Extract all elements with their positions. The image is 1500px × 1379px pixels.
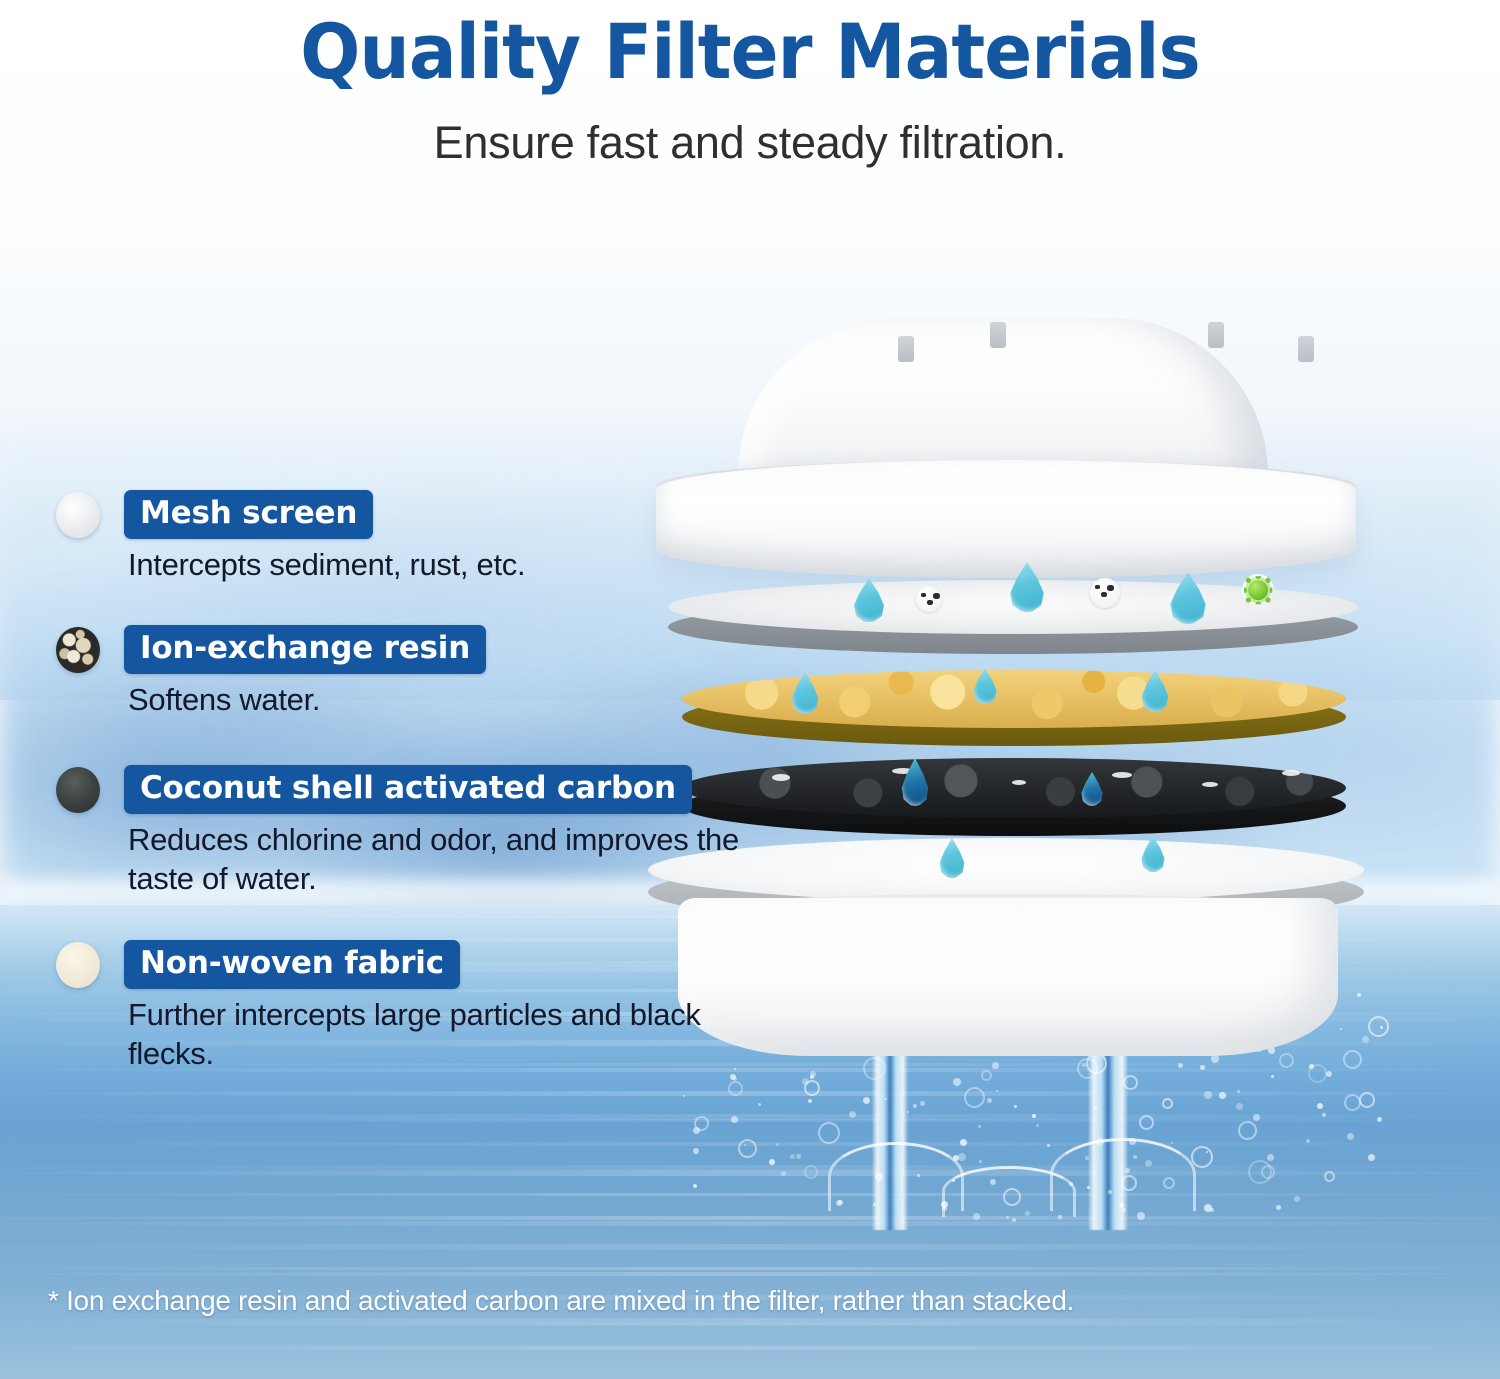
splash-droplet: [1211, 1055, 1219, 1063]
material-label-mesh-screen: Mesh screen Intercepts sediment, rust, e…: [56, 490, 525, 584]
splash-droplet: [1108, 1190, 1112, 1194]
badge-non-woven-fabric: Non-woven fabric: [124, 940, 460, 989]
ion-exchange-resin-disc: [682, 670, 1346, 746]
desc-ion-exchange-resin: Softens water.: [128, 680, 486, 720]
desc-mesh-screen: Intercepts sediment, rust, etc.: [128, 545, 525, 585]
splash-droplet: [1204, 1091, 1212, 1099]
splash-bubble: [1191, 1146, 1213, 1168]
page-subtitle: Ensure fast and steady filtration.: [0, 117, 1500, 169]
splash-droplet: [849, 1111, 856, 1118]
splash-bubble: [981, 1070, 992, 1081]
water-droplet: [1008, 562, 1046, 612]
splash-droplet: [1069, 1182, 1073, 1186]
splash-droplet: [1200, 1065, 1205, 1070]
activated-carbon-disc: [682, 758, 1346, 836]
splash-droplet: [1219, 1092, 1226, 1099]
splash-bubble: [1359, 1092, 1375, 1108]
filter-base-housing: [678, 898, 1338, 1056]
splash-droplet: [790, 1154, 795, 1159]
non-woven-fabric-swatch-icon: [56, 942, 100, 988]
splash-droplet: [863, 1097, 870, 1104]
splash-droplet: [1294, 1196, 1300, 1202]
splash-bubble: [1308, 1064, 1327, 1083]
splash-bubble: [804, 1080, 820, 1096]
splash-droplet: [1137, 1212, 1145, 1220]
splash-droplet: [1357, 993, 1361, 997]
filter-cap-tab: [898, 336, 914, 362]
splash-bubble: [863, 1057, 886, 1080]
splash-droplet: [1237, 1090, 1240, 1093]
splash-bubble: [1121, 1175, 1137, 1191]
splash-droplet: [1362, 1036, 1369, 1043]
filter-cap-ring: [656, 460, 1356, 578]
splash-droplet: [808, 1099, 812, 1103]
splash-bubble: [1139, 1115, 1154, 1130]
splash-droplet: [1094, 1106, 1097, 1109]
splash-droplet: [1271, 1075, 1274, 1078]
splash-bubble: [1343, 1050, 1362, 1069]
splash-droplet: [838, 1200, 843, 1205]
splash-droplet: [1036, 1124, 1039, 1127]
badge-mesh-screen: Mesh screen: [124, 490, 373, 539]
splash-bubble: [1279, 1053, 1294, 1068]
splash-bubble: [1368, 1016, 1389, 1037]
filter-cap-tab: [990, 322, 1006, 348]
splash-droplet: [992, 1062, 999, 1069]
water-droplet: [852, 578, 886, 622]
splash-droplet: [1012, 1218, 1016, 1222]
carbon-highlight: [1202, 782, 1218, 787]
water-droplet: [938, 838, 966, 878]
resin-disc-face: [682, 670, 1346, 728]
water-droplet: [972, 668, 998, 704]
splash-bubble: [1248, 1160, 1272, 1184]
splash-bubble: [804, 1165, 818, 1179]
carbon-disc-face: [682, 758, 1346, 818]
virus-particle: [1242, 574, 1274, 606]
badge-activated-carbon: Coconut shell activated carbon: [124, 765, 692, 814]
filter-cap-tab: [1208, 322, 1224, 348]
splash-bubble: [1163, 1177, 1175, 1189]
splash-droplet: [1377, 1117, 1382, 1122]
splash-droplet: [769, 1159, 775, 1165]
filter-cap-tab: [1298, 336, 1314, 362]
splash-bubble: [1077, 1058, 1098, 1079]
splash-droplet: [1178, 1063, 1183, 1068]
material-label-non-woven-fabric: Non-woven fabric Further intercepts larg…: [56, 940, 748, 1074]
water-droplet: [1140, 836, 1166, 872]
carbon-highlight: [1012, 780, 1026, 785]
splash-droplet: [1368, 1154, 1375, 1161]
material-label-activated-carbon: Coconut shell activated carbon Reduces c…: [56, 765, 748, 899]
splash-droplet: [1085, 1156, 1089, 1160]
splash-droplet: [1047, 1144, 1050, 1147]
header: Quality Filter Materials Ensure fast and…: [0, 0, 1500, 169]
splash-droplet: [1306, 1139, 1310, 1143]
footnote: * Ion exchange resin and activated carbo…: [48, 1285, 1074, 1317]
splash-droplet: [1087, 1186, 1090, 1189]
page-title: Quality Filter Materials: [53, 8, 1448, 95]
splash-droplet: [810, 1071, 816, 1077]
splash-droplet: [1058, 1215, 1062, 1219]
splash-droplet: [952, 1179, 955, 1182]
splash-droplet: [1322, 1113, 1326, 1117]
splash-droplet: [873, 1203, 876, 1206]
splash-droplet: [1171, 1142, 1173, 1144]
splash-droplet: [913, 1104, 917, 1108]
splash-droplet: [960, 1139, 967, 1146]
splash-droplet: [979, 1160, 982, 1163]
carbon-highlight: [1282, 770, 1300, 776]
splash-droplet: [1317, 1103, 1323, 1109]
sediment-particle: [1090, 578, 1120, 608]
badge-ion-exchange-resin: Ion-exchange resin: [124, 625, 486, 674]
material-label-ion-exchange-resin: Ion-exchange resin Softens water.: [56, 625, 486, 719]
water-droplet: [1168, 572, 1208, 624]
splash-droplet: [958, 1153, 966, 1161]
splash-droplet: [920, 1101, 925, 1106]
splash-droplet: [1276, 1205, 1281, 1210]
splash-droplet: [875, 1173, 883, 1181]
splash-droplet: [1253, 1114, 1260, 1121]
splash-droplet: [917, 1174, 920, 1177]
carbon-highlight: [1112, 772, 1132, 778]
splash-droplet: [1347, 1133, 1354, 1140]
desc-activated-carbon: Reduces chlorine and odor, and improves …: [128, 820, 748, 899]
splash-bubble: [964, 1087, 985, 1108]
splash-droplet: [907, 1111, 909, 1113]
mesh-screen-swatch-icon: [56, 492, 100, 538]
splash-droplet: [1236, 1103, 1243, 1110]
ion-exchange-resin-swatch-icon: [56, 627, 100, 673]
splash-bubble: [1238, 1121, 1257, 1140]
splash-droplet: [1032, 1114, 1036, 1118]
splash-bubble: [1324, 1171, 1335, 1182]
splash-bubble: [1003, 1188, 1021, 1206]
water-droplet: [1140, 670, 1170, 712]
material-label-list: Mesh screen Intercepts sediment, rust, e…: [0, 0, 760, 1379]
splash-droplet: [1267, 1154, 1274, 1161]
splash-droplet: [1204, 1204, 1212, 1212]
carbon-highlight: [772, 774, 790, 781]
infographic-canvas: Quality Filter Materials Ensure fast and…: [0, 0, 1500, 1379]
splash-droplet: [1133, 1155, 1137, 1159]
splash-bubble: [818, 1122, 840, 1144]
splash-droplet: [1006, 1216, 1009, 1219]
splash-droplet: [996, 1090, 998, 1092]
splash-droplet: [776, 1143, 779, 1146]
splash-droplet: [953, 1078, 961, 1086]
splash-droplet: [781, 1171, 786, 1176]
water-droplet: [790, 672, 820, 714]
activated-carbon-swatch-icon: [56, 767, 100, 813]
sediment-particle: [916, 586, 942, 612]
splash-droplet: [1125, 1168, 1130, 1173]
splash-droplet: [987, 1098, 992, 1103]
water-droplet: [900, 758, 930, 806]
water-droplet: [1080, 772, 1104, 806]
splash-bubble: [1123, 1075, 1138, 1090]
splash-droplet: [1014, 1105, 1017, 1108]
splash-droplet: [1145, 1160, 1152, 1167]
splash-droplet: [1340, 1028, 1342, 1030]
splash-bubble: [1162, 1098, 1173, 1109]
desc-non-woven-fabric: Further intercepts large particles and b…: [128, 995, 748, 1074]
splash-droplet: [973, 1213, 980, 1220]
splash-droplet: [978, 1125, 981, 1128]
splash-droplet: [796, 1154, 801, 1159]
